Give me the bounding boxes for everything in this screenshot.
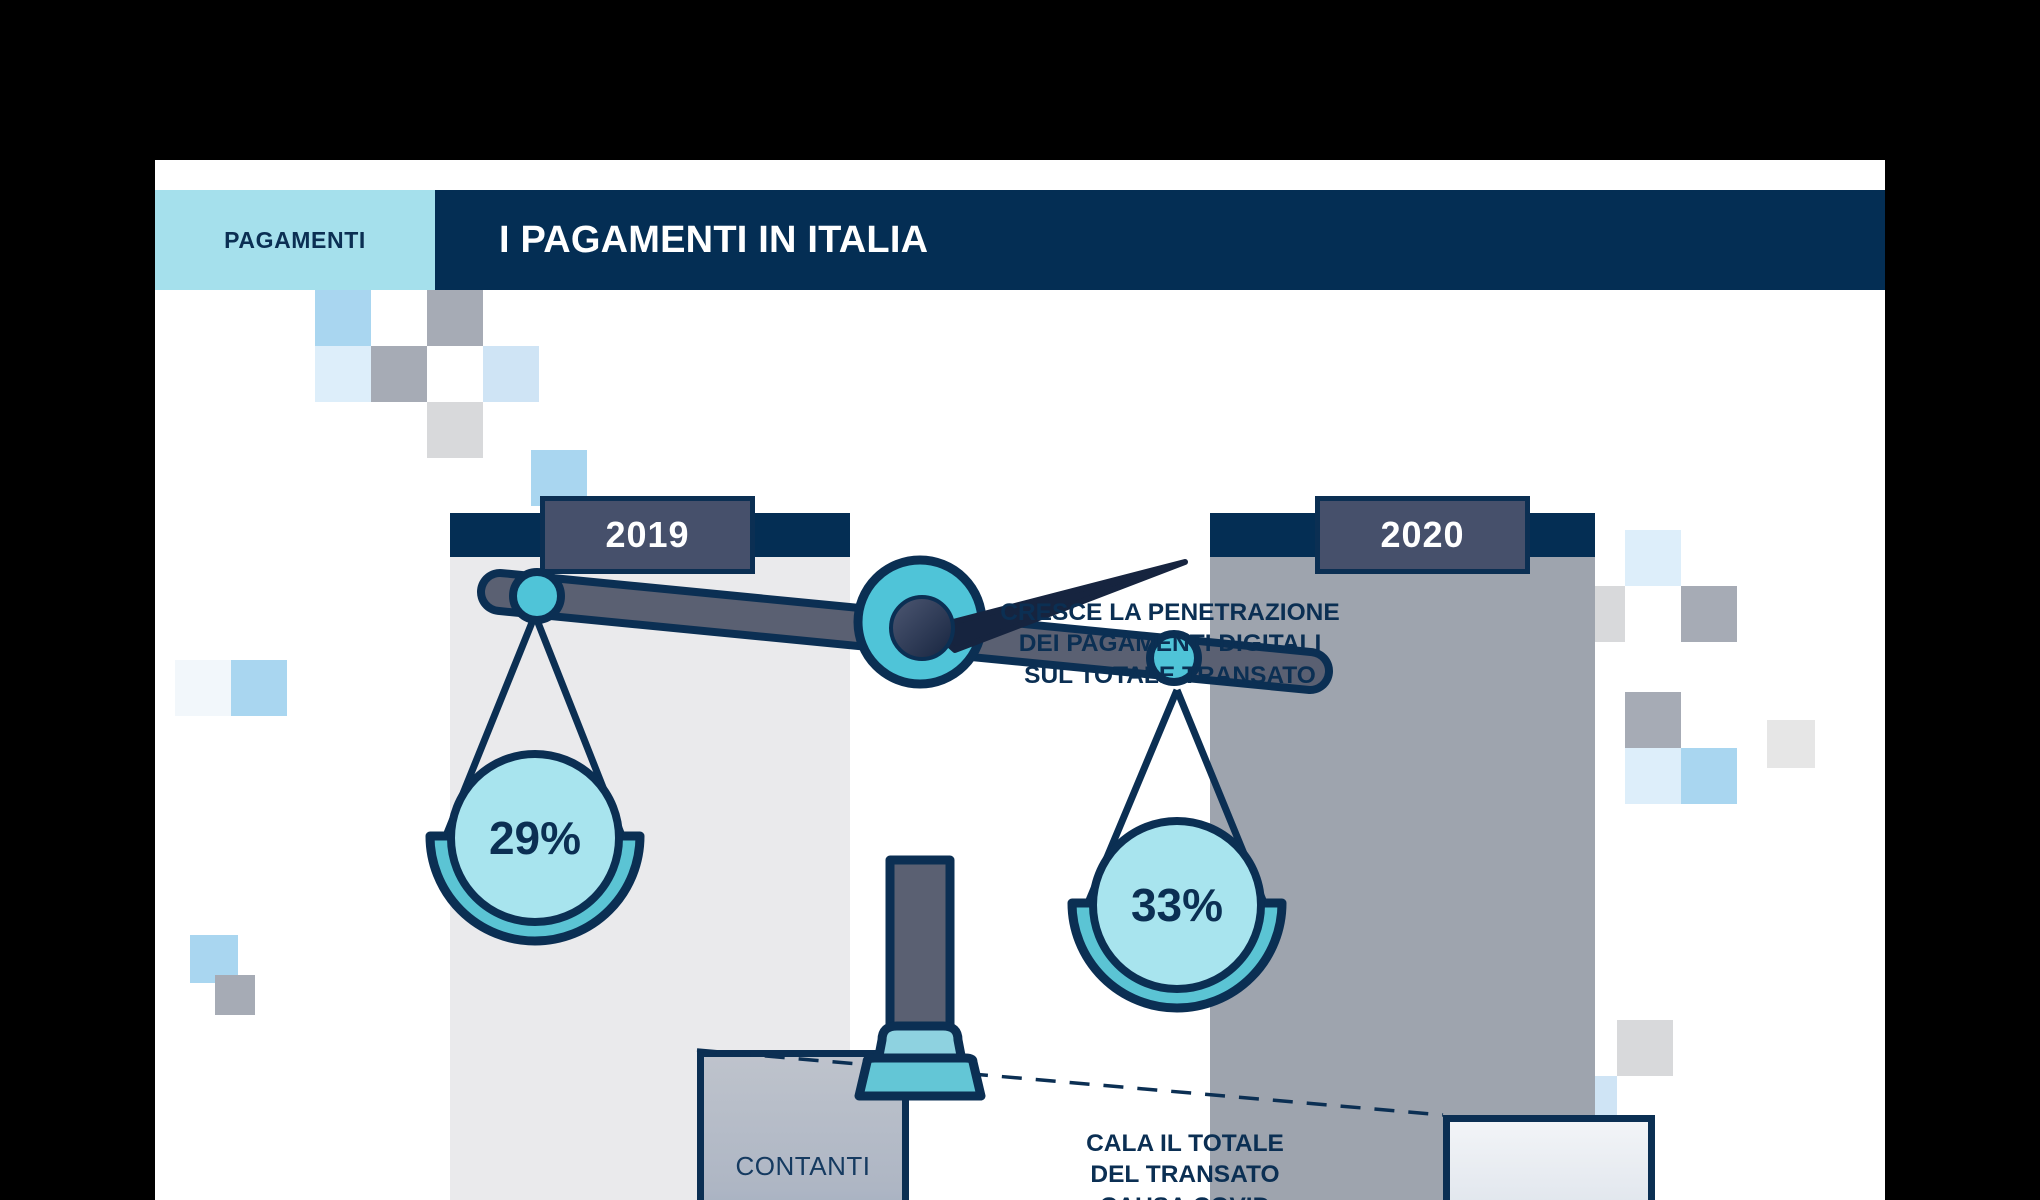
callout-top-line3: SUL TOTALE TRANSATO [940,660,1400,691]
header-title-bar: I PAGAMENTI IN ITALIA [435,190,1885,290]
callout-top-line1: CRESCE LA PENETRAZIONE [940,597,1400,628]
callout-bottom: CALA IL TOTALE DEL TRANSATO CAUSA COVID [1010,1128,1360,1200]
right-pan-value-text: 33% [1131,879,1223,931]
callout-top-line2: DEI PAGAMENTI DIGITALI [940,628,1400,659]
header-kicker-label: PAGAMENTI [224,227,366,254]
screenshot-stage: 2019 2020 CONTANTI ALTRO ALTRO [0,0,2040,1200]
callout-bottom-line2: DEL TRANSATO [1010,1159,1360,1190]
callout-top: CRESCE LA PENETRAZIONE DEI PAGAMENTI DIG… [940,597,1400,691]
left-pan-value-text: 29% [489,812,581,864]
header-kicker: PAGAMENTI [155,190,435,290]
callout-bottom-line3: CAUSA COVID [1010,1191,1360,1200]
beam-left-knob [513,572,561,620]
infographic-panel: 2019 2020 CONTANTI ALTRO ALTRO [155,160,1885,1200]
callout-bottom-line1: CALA IL TOTALE [1010,1128,1360,1159]
page-title: I PAGAMENTI IN ITALIA [499,219,928,262]
left-pan-value-circle: 29% [451,754,619,922]
header-bar: PAGAMENTI I PAGAMENTI IN ITALIA [155,190,1885,290]
scale-base [859,860,981,1096]
right-pan-value-circle: 33% [1093,821,1261,989]
